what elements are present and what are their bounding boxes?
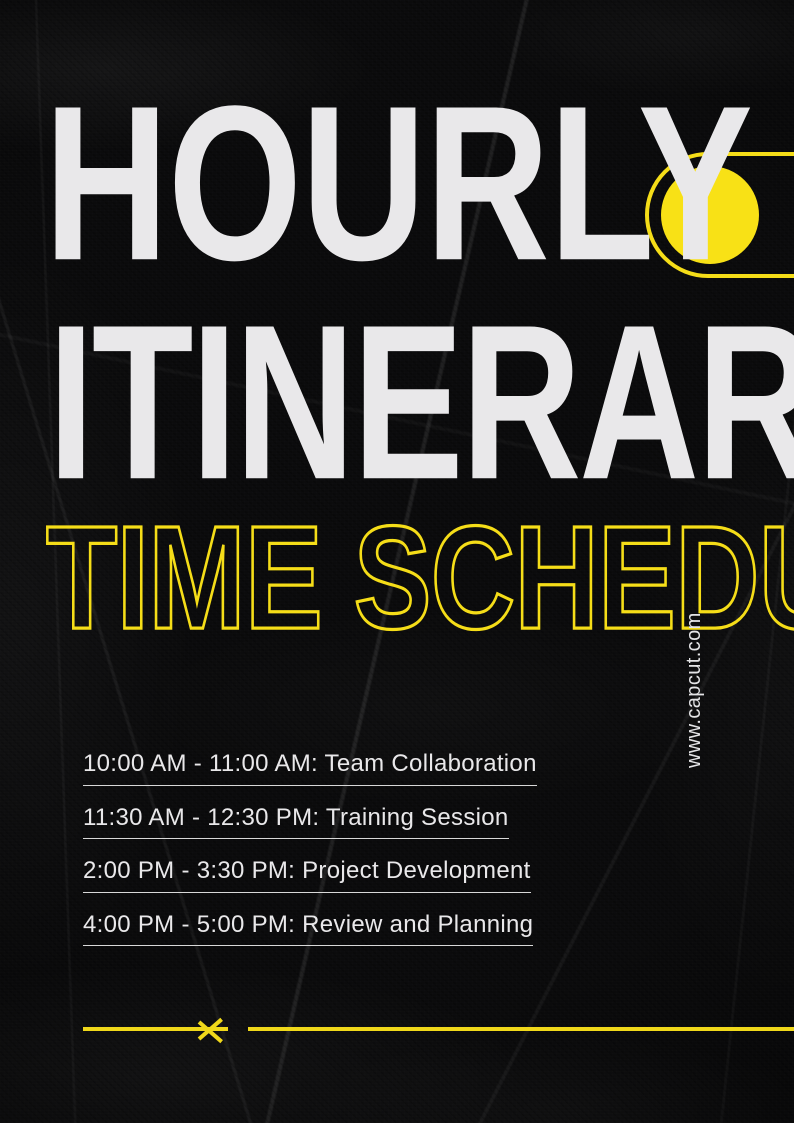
poster-canvas: HOURLY ITINERARY TIME SCHEDULE 10:00 AM … bbox=[0, 0, 794, 1123]
headline-line-itinerary: ITINERARY bbox=[48, 315, 794, 491]
arrow-right-icon bbox=[199, 1014, 221, 1044]
list-item: 4:00 PM - 5:00 PM: Review and Planning bbox=[83, 911, 533, 947]
footer-arrow-rule bbox=[0, 1000, 794, 1060]
list-item: 10:00 AM - 11:00 AM: Team Collaboration bbox=[83, 750, 537, 786]
footer-divider-line bbox=[248, 1027, 794, 1031]
list-item: 2:00 PM - 3:30 PM: Project Development bbox=[83, 857, 531, 893]
website-url-vertical: www.capcut.com bbox=[679, 558, 709, 768]
headline-line-hourly: HOURLY bbox=[44, 96, 752, 272]
list-item: 11:30 AM - 12:30 PM: Training Session bbox=[83, 804, 509, 840]
schedule-list: 10:00 AM - 11:00 AM: Team Collaboration … bbox=[83, 750, 643, 964]
